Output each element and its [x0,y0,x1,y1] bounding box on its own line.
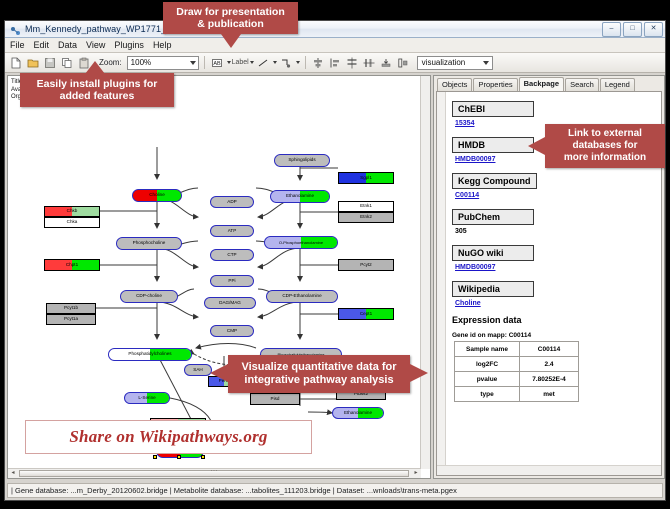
node-label: Ethanolamine [344,411,372,416]
callout-visualize-line2: integrative pathway analysis [244,374,393,387]
callout-visualize-line1: Visualize quantitative data for [241,361,396,374]
pathway-node-sgpl1[interactable]: Sgpl1 [338,172,394,184]
callout-plugins-arrow-stem [91,71,99,77]
node-label: ADP [227,200,236,205]
node-label: CMP [227,329,237,334]
pathway-node-dagmag[interactable]: DAG/MAG [204,297,256,309]
open-folder-icon[interactable] [25,55,40,70]
screenshot-root: Mm_Kennedy_pathway_WP1771_45176.gpml – □… [0,0,670,509]
db-link-nugo-wiki[interactable]: HMDB00097 [455,264,653,271]
pathway-node-ethanolamine-top[interactable]: Ethanolamine [270,190,330,203]
db-section-chebi: ChEBI 15354 [452,99,653,127]
db-section-wikipedia: Wikipedia Choline [452,279,653,307]
line-tool-icon[interactable] [256,55,271,70]
scroll-right-arrow[interactable]: ▸ [411,469,421,478]
pathway-node-chpt1[interactable]: Chpt1 [44,259,100,271]
node-label: Etnk1 [360,204,372,209]
node-label: Ethanolamine [286,194,314,199]
pathway-node-pcyt1a[interactable]: Pcyt1a [46,314,96,325]
pathway-node-etnk2[interactable]: Etnk2 [338,212,394,223]
node-label: Choline [149,193,165,198]
pathway-node-chkb[interactable]: Chkb [44,206,100,217]
row-key: pvalue [455,372,520,387]
pathway-node-sah[interactable]: SAH [184,364,212,376]
pathway-node-cdp-choline[interactable]: CDP-choline [120,290,178,303]
connector-tool-dropdown[interactable] [296,61,300,64]
db-section-pubchem: PubChem 305 [452,207,653,235]
expression-data-table: Sample name C00114 log2FC 2.4 pvalue 7.8… [454,341,579,402]
chevron-down-icon [227,61,231,64]
node-label: Pcyt1b [64,306,78,311]
visualization-combobox[interactable]: visualization [417,56,493,70]
pathway-node-choline-top[interactable]: Choline [132,189,182,202]
callout-draw-for-presentation: Draw for presentation & publication [163,2,298,34]
db-header-pubchem: PubChem [452,209,534,225]
title-bar: Mm_Kennedy_pathway_WP1771_45176.gpml – □… [5,21,665,38]
callout-link-line1: Link to external [568,128,642,140]
pathway-node-l-serine-left[interactable]: L-Serine [124,392,170,404]
zoom-value: 100% [131,58,151,67]
stack-icon[interactable] [379,55,394,70]
toolbar-separator [204,56,205,69]
db-section-kegg: Kegg Compound C00114 [452,171,653,199]
callout-link-line2: databases for [572,140,637,152]
row-value: 7.80252E-4 [520,372,579,387]
table-row: pvalue 7.80252E-4 [455,372,579,387]
tab-search[interactable]: Search [565,78,599,92]
db-section-nugo: NuGO wiki HMDB00097 [452,243,653,271]
chevron-down-icon [483,61,489,65]
canvas-scroll-thumb[interactable] [19,470,409,477]
close-button[interactable]: ✕ [644,22,663,37]
db-header-hmdb: HMDB [452,137,534,153]
node-label: ATP [228,229,237,234]
callout-link-arrow-stem [540,141,548,151]
pathway-node-atp[interactable]: ATP [210,225,254,237]
menu-item-help[interactable]: Help [153,40,172,50]
node-label: CTP [227,253,236,258]
share-text: Share on Wikipathways.org [69,427,267,447]
node-label: L-Serine [138,396,155,401]
chevron-down-icon [296,61,300,64]
maximize-button[interactable]: □ [623,22,642,37]
tab-backpage[interactable]: Backpage [519,77,564,92]
gene-id-on-mapp: Gene id on mapp: C00114 [452,332,653,339]
pathway-node-pcyt2[interactable]: Pcyt2 [338,259,394,271]
pathway-node-etnk1[interactable]: Etnk1 [338,201,394,212]
label-tool-button[interactable]: Label [233,55,248,70]
node-label: Phosphocholine [133,241,166,246]
pathway-node-ctp[interactable]: CTP [210,249,254,261]
callout-visualize-arrow-left-icon [210,364,228,382]
pathway-node-ppi[interactable]: PPi [210,275,254,287]
pathway-canvas-inner[interactable]: Title: Availab Organis [8,76,421,469]
menu-item-view[interactable]: View [86,40,105,50]
node-label: Cept1 [360,312,372,317]
node-label: Chpt1 [66,263,78,268]
copy-icon[interactable] [59,55,74,70]
node-label: Pcyt2 [360,263,372,268]
tab-objects[interactable]: Objects [437,78,472,92]
callout-plugins-line2: added features [60,90,135,102]
pathvisio-icon [10,24,21,35]
scroll-left-arrow[interactable]: ◂ [8,469,18,478]
line-tool-dropdown[interactable] [273,61,277,64]
pathway-node-phosphatidylcholines[interactable]: Phosphatidylcholines [108,348,192,361]
callout-link-external-databases: Link to external databases for more info… [545,124,665,168]
db-link-wikipedia[interactable]: Choline [455,300,653,307]
callout-visualize-quantitative-data: Visualize quantitative data for integrat… [228,355,410,393]
distribute-horizontal-icon[interactable] [362,55,377,70]
node-label: Chkb [67,209,78,214]
node-label: Sphingolipids [288,158,315,163]
callout-draw-line2: & publication [197,18,264,30]
pathway-node-phosphocholine[interactable]: Phosphocholine [116,237,182,250]
menu-bar: File Edit Data View Plugins Help [5,38,665,53]
node-label: O-Phosphoethanolamine [279,241,323,245]
share-on-wikipathways-banner: Share on Wikipathways.org [25,420,312,454]
callout-draw-line1: Draw for presentation [176,6,285,18]
text-label-icon[interactable]: AB [210,55,225,70]
callout-draw-arrow-icon [221,34,241,48]
node-label: Phosphatidylcholines [128,352,171,357]
node-label: CDP-choline [136,294,162,299]
row-key: Sample name [455,342,520,357]
callout-plugins-line1: Easily install plugins for [37,78,158,90]
tab-properties[interactable]: Properties [473,78,517,92]
row-value: met [520,387,579,402]
menu-item-file[interactable]: File [10,40,25,50]
selection-handle[interactable] [177,455,181,459]
row-value: C00114 [520,342,579,357]
order-icon[interactable] [396,55,411,70]
row-key: log2FC [455,357,520,372]
db-link-kegg-compound[interactable]: C00114 [455,192,653,199]
node-label: Pcyt1a [64,317,78,322]
table-row: log2FC 2.4 [455,357,579,372]
node-label: SAH [193,368,202,373]
canvas-vertical-scrollbar[interactable] [420,76,430,469]
visualization-value: visualization [422,58,466,67]
pathway-node-chka[interactable]: Chka [44,217,100,228]
selection-handle[interactable] [201,455,205,459]
pathway-node-ethanolamine-bottom[interactable]: Ethanolamine [332,407,384,419]
window-controls: – □ ✕ [602,22,663,37]
expression-data-title: Expression data [452,315,653,325]
db-header-chebi: ChEBI [452,101,534,117]
side-panel-tabs: Objects Properties Backpage Search Legen… [434,76,664,91]
backpage-vertical-scrollbar[interactable] [437,92,446,475]
node-label: Etnk2 [360,215,372,220]
table-row: Sample name C00114 [455,342,579,357]
align-left-icon[interactable] [328,55,343,70]
row-value: 2.4 [520,357,579,372]
canvas-horizontal-scrollbar[interactable]: ◂ ▸ [8,468,421,478]
pathway-node-sphingolipids[interactable]: Sphingolipids [274,154,330,167]
menu-item-plugins[interactable]: Plugins [114,40,144,50]
row-key: type [455,387,520,402]
node-label: PPi [228,279,235,284]
pathway-node-adp[interactable]: ADP [210,196,254,208]
callout-visualize-arrow-right-icon [410,364,428,382]
node-label: DAG/MAG [219,301,241,306]
callout-link-line3: more information [564,152,646,164]
node-label: Sgpl1 [360,176,372,181]
pathway-node-pisd[interactable]: Pisd [250,393,300,405]
chevron-down-icon [273,61,277,64]
toolbar-separator [305,56,306,69]
label-tool-dropdown[interactable] [250,61,254,64]
menu-item-data[interactable]: Data [58,40,77,50]
label-dropdown[interactable] [227,61,231,64]
pathway-canvas[interactable]: Title: Availab Organis [7,75,431,479]
minimize-button[interactable]: – [602,22,621,37]
pathway-node-cmp[interactable]: CMP [210,325,254,337]
connector-tool-icon[interactable] [279,55,294,70]
db-value-pubchem: 305 [455,228,653,235]
pathway-node-cdp-ethanolamine[interactable]: CDP-Ethanolamine [266,290,338,303]
zoom-combobox[interactable]: 100% [127,56,199,70]
status-text: | Gene database: ...m_Derby_20120602.bri… [11,486,457,495]
chevron-down-icon [250,61,254,64]
db-header-kegg-compound: Kegg Compound [452,173,537,189]
svg-text:AB: AB [214,61,222,67]
menu-item-edit[interactable]: Edit [34,40,50,50]
tab-legend[interactable]: Legend [600,78,635,92]
chevron-down-icon [190,61,196,65]
backpage-horizontal-scrollbar[interactable] [437,465,661,475]
callout-install-plugins: Easily install plugins for added feature… [20,73,174,107]
table-row: type met [455,387,579,402]
db-header-wikipedia: Wikipedia [452,281,534,297]
db-header-nugo-wiki: NuGO wiki [452,245,534,261]
pathway-node-o-phosphoethanolamine[interactable]: O-Phosphoethanolamine [264,236,338,249]
new-file-icon[interactable] [8,55,23,70]
align-center-icon[interactable] [311,55,326,70]
node-label: Chka [67,220,78,225]
node-label: Pisd [271,397,280,402]
save-icon[interactable] [42,55,57,70]
pathway-node-pcyt1b[interactable]: Pcyt1b [46,303,96,314]
selection-handle[interactable] [153,455,157,459]
distribute-vertical-icon[interactable] [345,55,360,70]
node-label: CDP-Ethanolamine [282,294,321,299]
status-bar: | Gene database: ...m_Derby_20120602.bri… [7,483,663,498]
pathway-node-cept1[interactable]: Cept1 [338,308,394,320]
